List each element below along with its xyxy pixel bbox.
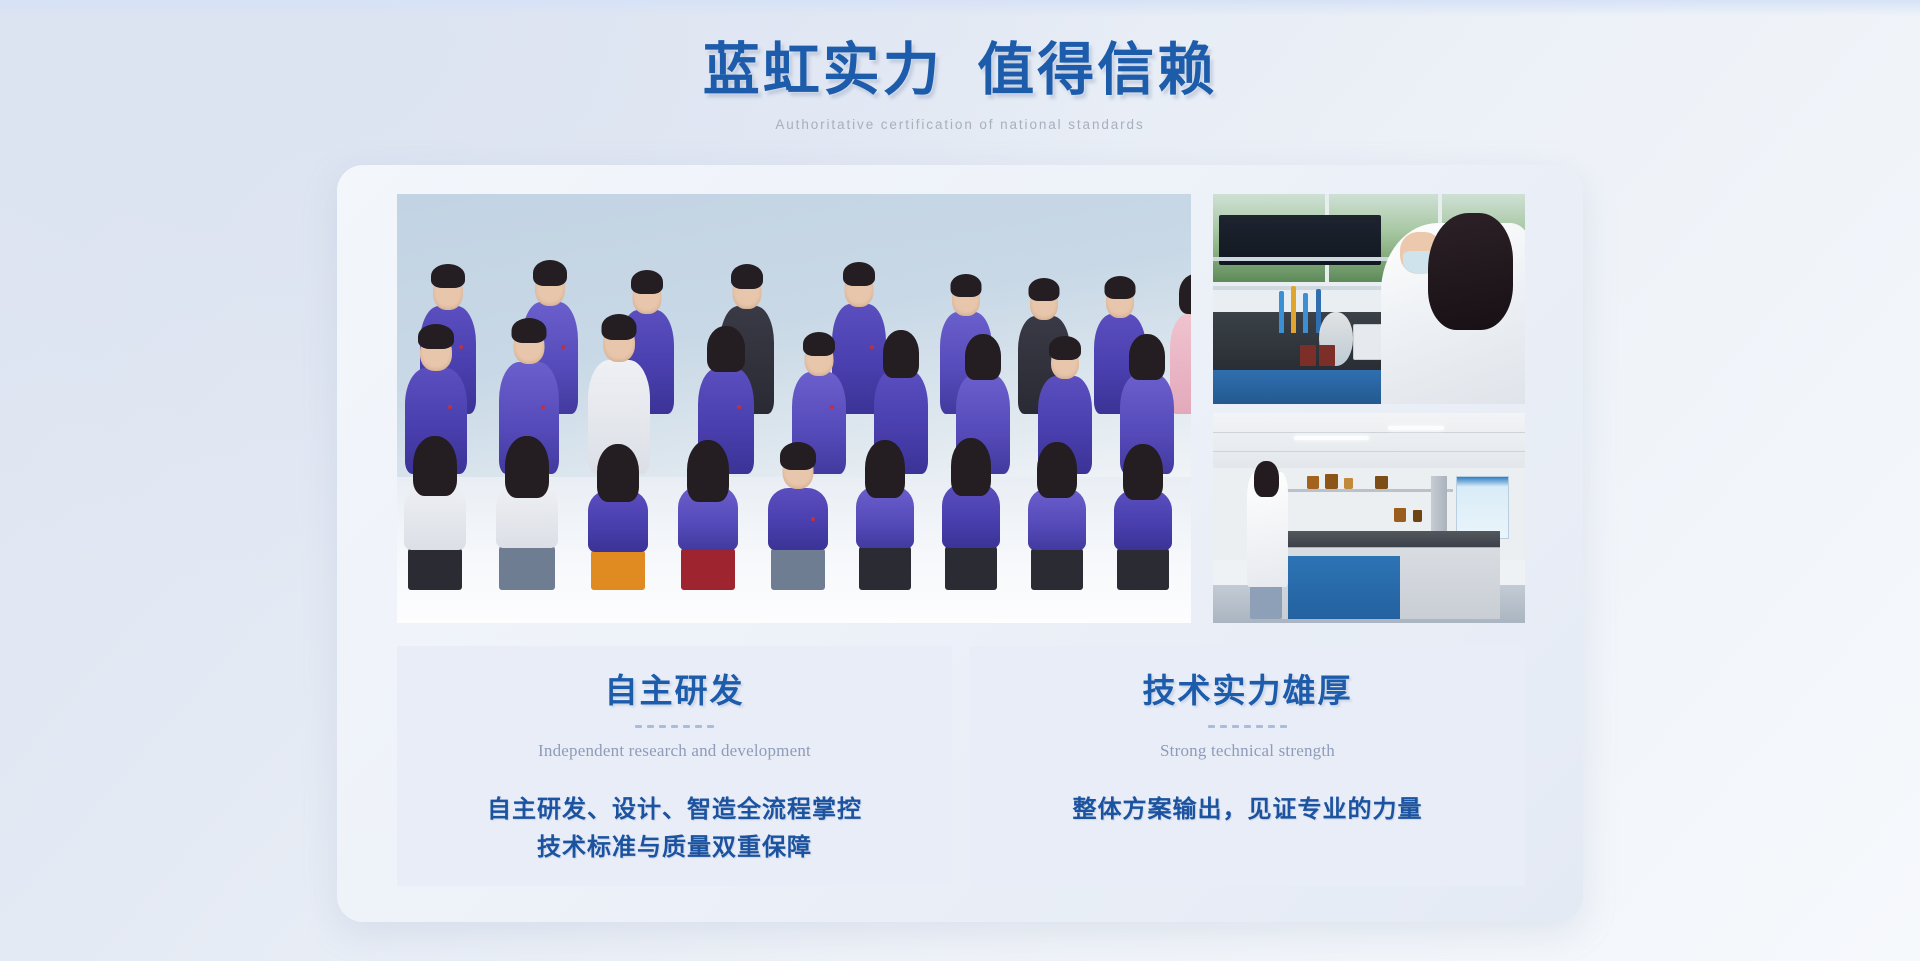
technician-hair — [1428, 213, 1512, 331]
dashed-divider — [1208, 725, 1287, 728]
hair — [865, 440, 905, 498]
team-photo-image — [397, 194, 1191, 623]
hair — [631, 270, 663, 294]
hair — [951, 438, 991, 496]
torso — [768, 488, 828, 550]
reagent-bottle — [1413, 510, 1422, 523]
ceiling-line — [1213, 432, 1525, 433]
content-panel: 自主研发 Independent research and developmen… — [337, 165, 1583, 922]
hair — [780, 442, 816, 470]
ceiling-line — [1213, 451, 1525, 452]
page-subtitle: Authoritative certification of national … — [0, 117, 1920, 132]
divider-dash — [1220, 725, 1227, 728]
legs — [681, 546, 735, 590]
divider-dash — [1268, 725, 1275, 728]
feature-card-title: 技术实力雄厚 — [1143, 673, 1353, 713]
hair — [951, 274, 982, 297]
hair — [731, 264, 763, 289]
divider-dash — [1244, 725, 1251, 728]
divider-dash — [683, 725, 690, 728]
reagent-bottle — [1394, 508, 1406, 523]
feature-card-title: 自主研发 — [605, 673, 745, 713]
page-header: 蓝虹实力 值得信赖 Authoritative certification of… — [0, 38, 1920, 132]
hair — [418, 324, 454, 349]
feature-card-independent-rd[interactable]: 自主研发 Independent research and developmen… — [397, 646, 952, 886]
hair — [965, 334, 1001, 380]
hair — [512, 318, 547, 343]
hair — [602, 314, 637, 340]
pipette — [1279, 291, 1284, 333]
reagent-bottle — [1307, 476, 1319, 489]
feature-card-body: 整体方案输出，见证专业的力量 — [1073, 791, 1423, 830]
bench-cabinet — [1344, 556, 1400, 619]
team-row-front — [401, 436, 1175, 586]
dashed-divider — [635, 725, 714, 728]
hair — [505, 436, 549, 498]
hair — [533, 260, 567, 286]
lab-photo-room-image — [1213, 413, 1525, 623]
feature-card-subtitle: Independent research and development — [538, 741, 811, 761]
divider-dash — [647, 725, 654, 728]
hair — [843, 262, 875, 286]
ceiling-lamp — [1294, 436, 1369, 440]
hair — [1037, 442, 1077, 498]
hair — [1105, 276, 1136, 299]
hair — [1179, 274, 1191, 314]
reagent-bottle — [1344, 478, 1353, 489]
legs — [499, 544, 555, 590]
divider-dash — [635, 725, 642, 728]
legs — [1031, 546, 1083, 590]
media-gallery — [397, 194, 1525, 623]
reagent-shelf — [1282, 489, 1454, 492]
hair — [413, 436, 457, 496]
legs — [859, 544, 911, 590]
divider-dash — [1208, 725, 1215, 728]
safety-poster — [1456, 476, 1509, 539]
legs — [771, 546, 825, 590]
page-title: 蓝虹实力 值得信赖 — [0, 38, 1920, 104]
bench-cabinet — [1288, 556, 1344, 619]
badge-icon — [541, 405, 545, 409]
hair — [1029, 278, 1060, 301]
pipette — [1291, 286, 1296, 332]
side-photo-column — [1213, 194, 1525, 623]
lab-photo-pipetting-image — [1213, 194, 1525, 404]
legs — [945, 544, 997, 590]
technician-hair — [1254, 461, 1279, 497]
hair — [1123, 444, 1163, 500]
divider-dash — [695, 725, 702, 728]
divider-dash — [707, 725, 714, 728]
team-member — [1169, 264, 1191, 414]
legs — [591, 548, 645, 590]
badge-icon — [870, 345, 874, 349]
legs — [1117, 546, 1169, 590]
reagent-bottle — [1375, 476, 1387, 489]
hair — [1129, 334, 1165, 380]
hair — [687, 440, 729, 502]
lab-photo-pipetting[interactable] — [1213, 194, 1525, 404]
feature-card-technical-strength[interactable]: 技术实力雄厚 Strong technical strength 整体方案输出，… — [970, 646, 1525, 886]
divider-dash — [671, 725, 678, 728]
hair — [803, 332, 835, 356]
badge-icon — [830, 405, 834, 409]
reagent-vial — [1319, 345, 1335, 366]
divider-dash — [1232, 725, 1239, 728]
reagent-vial — [1300, 345, 1316, 366]
feature-card-body: 自主研发、设计、智造全流程掌控 技术标准与质量双重保障 — [487, 791, 862, 869]
hair — [883, 330, 919, 378]
hair — [597, 444, 639, 502]
feature-cards: 自主研发 Independent research and developmen… — [397, 646, 1525, 886]
ceiling — [1213, 413, 1525, 468]
legs — [408, 546, 462, 590]
divider-dash — [1256, 725, 1263, 728]
hair — [1049, 336, 1081, 360]
hair — [431, 264, 465, 288]
pipette — [1303, 293, 1308, 333]
hair — [707, 326, 745, 372]
lab-photo-room[interactable] — [1213, 413, 1525, 623]
feature-card-subtitle: Strong technical strength — [1160, 741, 1335, 761]
divider-dash — [1280, 725, 1287, 728]
divider-dash — [659, 725, 666, 728]
ceiling-lamp — [1388, 426, 1444, 430]
reagent-bottle — [1325, 474, 1337, 489]
team-photo[interactable] — [397, 194, 1191, 623]
